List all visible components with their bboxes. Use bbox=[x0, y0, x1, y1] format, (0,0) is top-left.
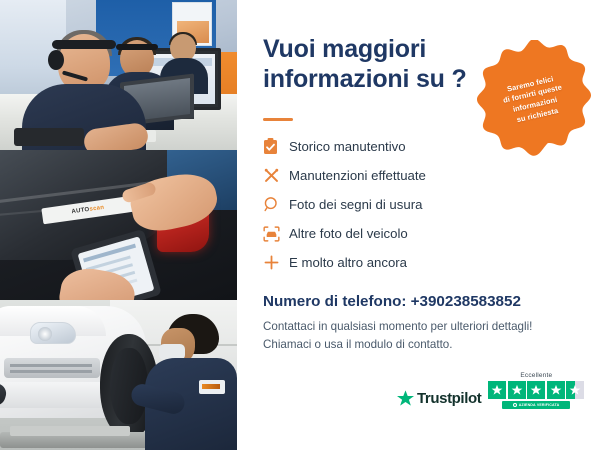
trustpilot-star-icon bbox=[397, 390, 414, 407]
headset-icon bbox=[462, 51, 485, 72]
content-panel: Vuoi maggiori informazioni su ? Saremo f… bbox=[237, 0, 600, 450]
headset-band bbox=[52, 40, 116, 49]
feature-label: Altre foto del veicolo bbox=[289, 226, 408, 241]
rating-label: Eccellente bbox=[520, 372, 552, 379]
plus-icon bbox=[263, 254, 289, 271]
page-title: Vuoi maggiori informazioni su ? bbox=[263, 34, 483, 94]
feature-item-storico-manutentivo: Storico manutentivo bbox=[263, 132, 513, 161]
feature-item-molto-altro: E molto altro ancora bbox=[263, 248, 513, 277]
phone-label: Numero di telefono: bbox=[263, 293, 406, 310]
vehicle-lift-arm bbox=[10, 426, 130, 436]
magnifier-icon bbox=[263, 196, 289, 213]
contact-text-line-2: Chiamaci o usa il modulo di contatto. bbox=[263, 338, 452, 351]
promo-banner: AUTOscan bbox=[0, 0, 600, 450]
verified-check-icon bbox=[513, 403, 517, 407]
call-center-agents-photo bbox=[0, 0, 237, 150]
star-rating bbox=[488, 381, 584, 399]
tablet-on-desk bbox=[14, 128, 84, 146]
photo-column: AUTOscan bbox=[0, 0, 237, 450]
star-filled bbox=[547, 381, 565, 399]
uniform-logo-patch bbox=[199, 380, 225, 394]
car-photo-frame-icon bbox=[263, 226, 289, 242]
feature-label: E molto altro ancora bbox=[289, 255, 407, 270]
phone-number-line: Numero di telefono: +390238583852 bbox=[263, 293, 521, 310]
feature-label: Manutenzioni effettuate bbox=[289, 168, 426, 183]
title-divider bbox=[263, 118, 293, 121]
clipboard-check-icon bbox=[263, 138, 289, 155]
car-grille bbox=[4, 358, 100, 378]
trustpilot-rating: Eccellente bbox=[488, 372, 584, 409]
phone-number[interactable]: +390238583852 bbox=[411, 293, 521, 310]
verified-label: AZIENDA VERIFICATA bbox=[519, 403, 560, 407]
headline-line-1: Vuoi maggiori bbox=[263, 35, 426, 63]
vehicle-label-inspection-photo: AUTOscan bbox=[0, 150, 237, 300]
headline-line-2: informazioni su ? bbox=[263, 65, 467, 93]
trustpilot-widget[interactable]: Trustpilot Eccellente bbox=[397, 372, 584, 409]
feature-item-altre-foto-veicolo: Altre foto del veicolo bbox=[263, 219, 513, 248]
star-filled bbox=[488, 381, 506, 399]
wrench-screwdriver-cross-icon bbox=[263, 167, 289, 184]
feature-list: Storico manutentivo Manutenzioni effettu… bbox=[263, 132, 513, 277]
star-filled bbox=[508, 381, 526, 399]
mechanic bbox=[147, 314, 235, 450]
feature-label: Storico manutentivo bbox=[289, 139, 406, 154]
verified-business-badge: AZIENDA VERIFICATA bbox=[502, 401, 570, 409]
star-filled bbox=[527, 381, 545, 399]
trustpilot-logo: Trustpilot bbox=[397, 390, 481, 409]
feature-label: Foto dei segni di usura bbox=[289, 197, 422, 212]
feature-item-foto-segni-usura: Foto dei segni di usura bbox=[263, 190, 513, 219]
headset-earcup bbox=[48, 50, 64, 70]
mechanic-wheel-check-photo bbox=[0, 300, 237, 450]
feature-item-manutenzioni-effettuate: Manutenzioni effettuate bbox=[263, 161, 513, 190]
contact-text-line-1: Contattaci in qualsiasi momento per ulte… bbox=[263, 320, 532, 333]
trustpilot-brand: Trustpilot bbox=[417, 390, 481, 407]
car-headlight bbox=[30, 322, 76, 344]
star-half bbox=[566, 381, 584, 399]
